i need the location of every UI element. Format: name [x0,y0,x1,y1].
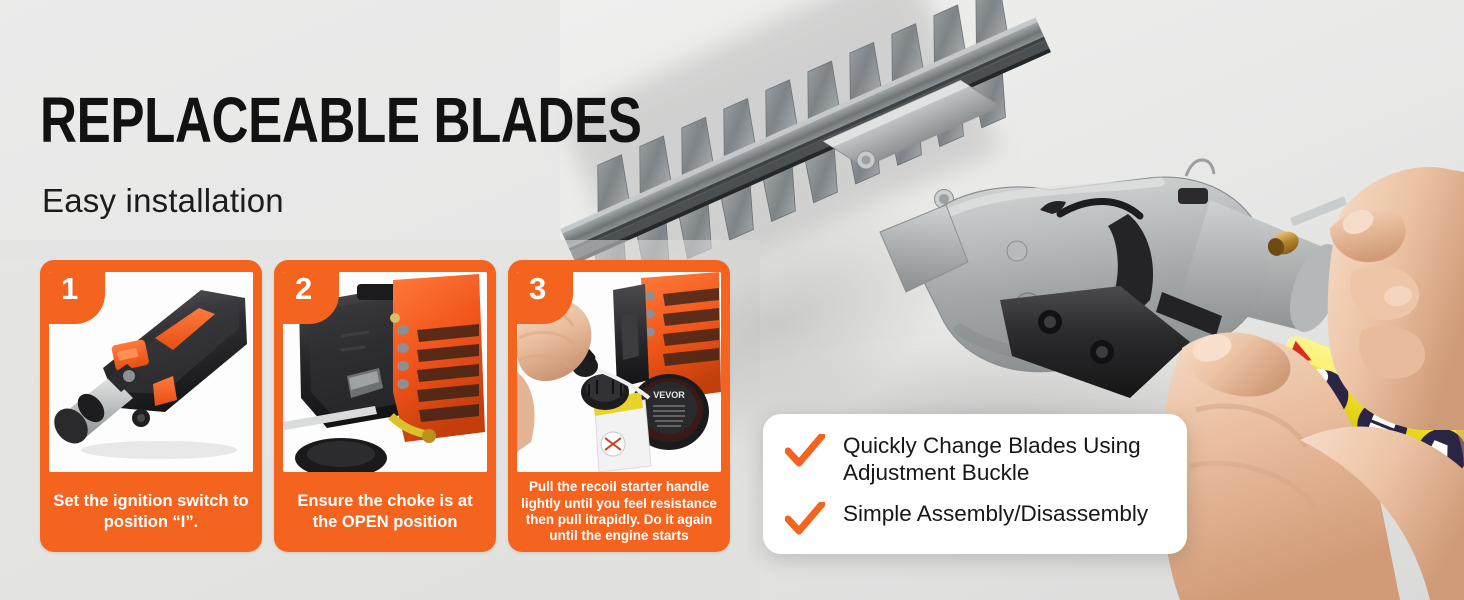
step-card-2: 2 Ensure the choke is at the OPEN positi… [274,260,496,552]
check-icon [785,434,825,468]
feature-item: Quickly Change Blades Using Adjustment B… [785,432,1167,487]
engine-choke-open-photo: 2 [283,272,487,472]
installation-steps: 1 Set the ignition switch to position “I… [40,260,730,552]
feature-callout-box: Quickly Change Blades Using Adjustment B… [763,414,1187,554]
step-caption: Set the ignition switch to position “I”. [49,472,253,552]
feature-text: Simple Assembly/Disassembly [843,500,1148,527]
trimmer-handle-ignition-switch-photo: 1 [49,272,253,472]
check-icon [785,502,825,536]
step-caption: Ensure the choke is at the OPEN position [283,472,487,552]
feature-item: Simple Assembly/Disassembly [785,500,1167,536]
svg-text:VEVOR: VEVOR [653,390,685,400]
feature-text: Quickly Change Blades Using Adjustment B… [843,432,1167,487]
page-title: REPLACEABLE BLADES [40,88,642,152]
step-caption: Pull the recoil starter handle lightly u… [517,472,721,552]
page-subtitle: Easy installation [42,182,284,220]
step-card-3: VEVOR [508,260,730,552]
hand-pulling-recoil-starter-photo: VEVOR [517,272,721,472]
step-card-1: 1 Set the ignition switch to position “I… [40,260,262,552]
marketing-banner: REPLACEABLE BLADES Easy installation [0,0,1464,600]
